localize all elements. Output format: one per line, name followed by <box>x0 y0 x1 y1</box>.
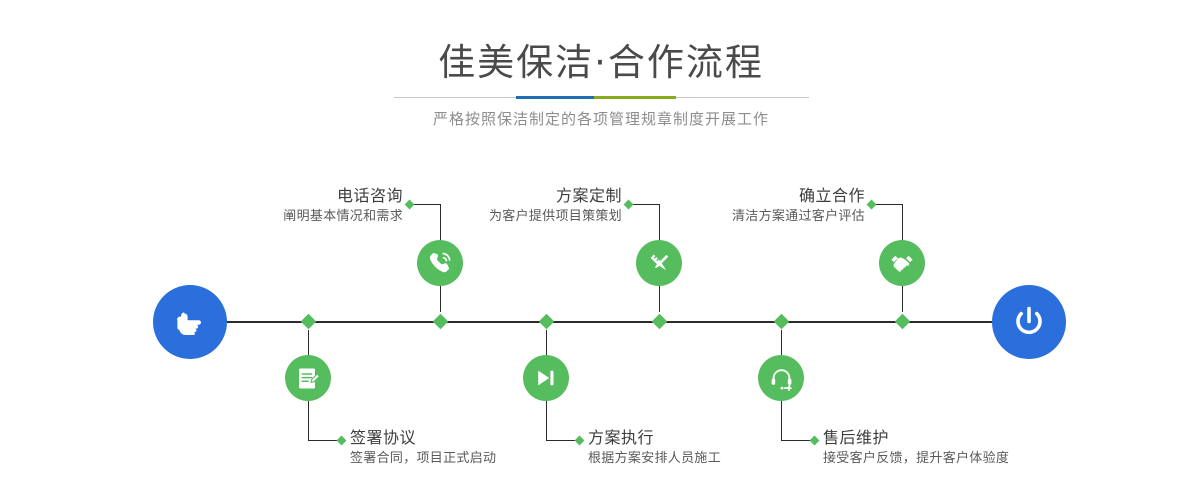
step-icon-plan-execution <box>523 355 569 401</box>
connector-dot-plan-execution <box>575 436 585 446</box>
document-edit-icon <box>295 365 322 392</box>
step-desc: 清洁方案通过客户评估 <box>660 207 865 227</box>
pointing-hand-icon <box>170 302 210 342</box>
axis-marker-after-sales-maintenance <box>774 314 790 330</box>
connector-dot-establish-cooperation <box>867 200 877 210</box>
step-icon-after-sales-maintenance <box>758 355 804 401</box>
timeline-start-node <box>153 285 227 359</box>
step-icon-plan-customization <box>636 240 682 286</box>
step-desc: 接受客户反馈，提升客户体验度 <box>823 449 1009 469</box>
phone-ring-icon <box>426 249 454 277</box>
play-skip-icon <box>533 365 559 391</box>
connector-dot-phone-consultation <box>405 200 415 210</box>
timeline-axis <box>158 321 1044 323</box>
step-label-phone-consultation: 电话咨询 阐明基本情况和需求 <box>205 185 403 227</box>
connector-dot-after-sales-maintenance <box>810 436 820 446</box>
connector-dot-sign-agreement <box>337 436 347 446</box>
step-label-sign-agreement: 签署协议 签署合同，项目正式启动 <box>350 427 496 469</box>
step-icon-sign-agreement <box>285 355 331 401</box>
connector-dot-plan-customization <box>624 200 634 210</box>
axis-marker-phone-consultation <box>433 314 449 330</box>
power-icon <box>1008 301 1050 343</box>
step-desc: 根据方案安排人员施工 <box>588 449 721 469</box>
axis-marker-establish-cooperation <box>895 314 911 330</box>
handshake-icon <box>888 249 916 277</box>
step-icon-establish-cooperation <box>879 240 925 286</box>
step-label-plan-customization: 方案定制 为客户提供项目策策划 <box>420 185 622 227</box>
step-title: 售后维护 <box>823 427 1009 449</box>
timeline: 电话咨询 阐明基本情况和需求 签署协议 签署合同，项目正式启动 <box>0 0 1202 502</box>
pencil-ruler-icon <box>646 250 673 277</box>
step-label-establish-cooperation: 确立合作 清洁方案通过客户评估 <box>660 185 865 227</box>
axis-marker-plan-customization <box>652 314 668 330</box>
step-desc: 签署合同，项目正式启动 <box>350 449 496 469</box>
step-title: 方案定制 <box>420 185 622 207</box>
step-icon-phone-consultation <box>417 240 463 286</box>
step-title: 确立合作 <box>660 185 865 207</box>
step-desc: 阐明基本情况和需求 <box>205 207 403 227</box>
step-desc: 为客户提供项目策策划 <box>420 207 622 227</box>
cooperation-process-infographic: 佳美保洁·合作流程 严格按照保洁制定的各项管理规章制度开展工作 <box>0 0 1202 502</box>
step-title: 电话咨询 <box>205 185 403 207</box>
timeline-end-node <box>992 285 1066 359</box>
axis-marker-sign-agreement <box>301 314 317 330</box>
headset-support-icon <box>768 365 795 392</box>
step-label-after-sales-maintenance: 售后维护 接受客户反馈，提升客户体验度 <box>823 427 1009 469</box>
axis-marker-plan-execution <box>539 314 555 330</box>
step-label-plan-execution: 方案执行 根据方案安排人员施工 <box>588 427 721 469</box>
step-title: 签署协议 <box>350 427 496 449</box>
step-title: 方案执行 <box>588 427 721 449</box>
